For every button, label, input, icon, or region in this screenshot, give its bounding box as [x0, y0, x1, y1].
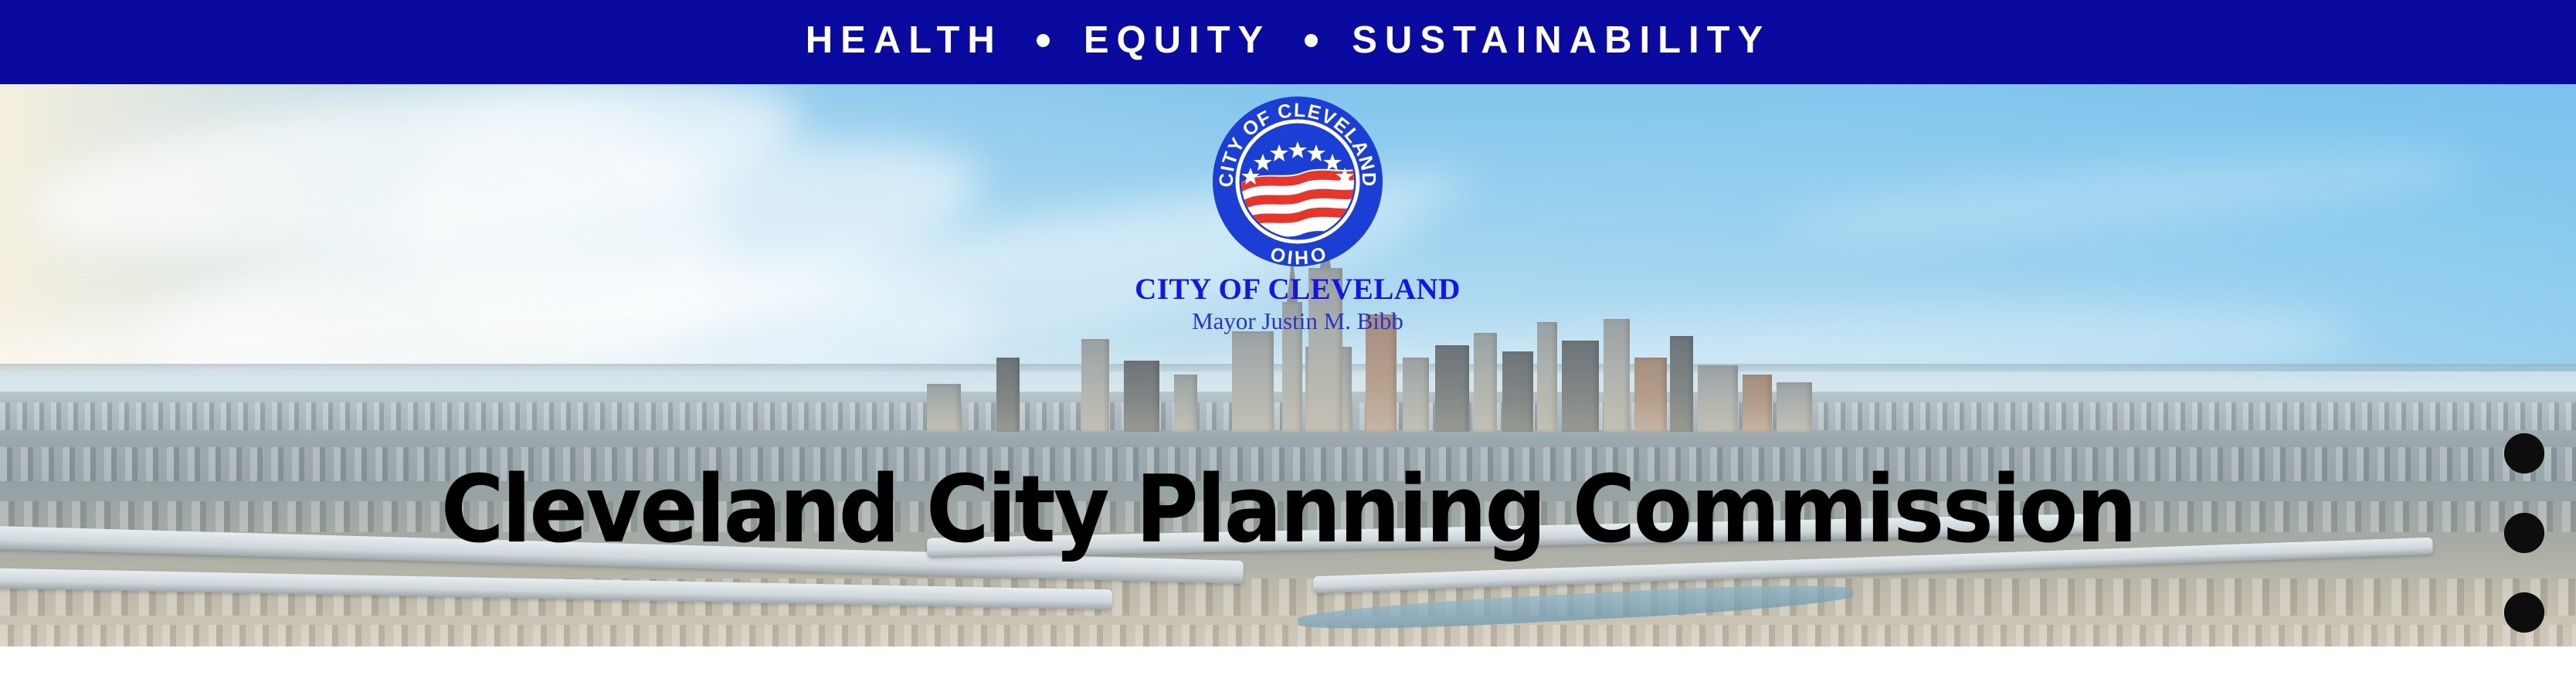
tagline-word-equity: EQUITY	[1084, 22, 1271, 59]
skyline-building	[1403, 358, 1429, 432]
skyline-building	[1474, 333, 1497, 432]
skyline-building	[1604, 319, 1630, 432]
page-title: Cleveland City Planning Commission	[90, 464, 2486, 557]
skyline-building	[927, 384, 961, 432]
mayor-name-label: Mayor Justin M. Bibb	[1081, 308, 1514, 334]
instagram-icon[interactable]	[2504, 513, 2544, 553]
youtube-icon[interactable]	[2504, 433, 2544, 473]
bullet-dot-icon	[1305, 34, 1318, 47]
skyline-building	[1698, 365, 1738, 432]
tagline-word-sustainability: SUSTAINABILITY	[1352, 22, 1770, 59]
skyline-building	[1537, 322, 1557, 432]
tagline-banner-inner: HEALTH EQUITY SUSTAINABILITY	[806, 22, 1770, 59]
city-logo-lockup: CITY OF CLEVELAND OHIO CITY OF CLEVELAND…	[1081, 93, 1514, 334]
tagline-word-health: HEALTH	[806, 22, 1003, 59]
bullet-dot-icon	[1037, 34, 1050, 47]
skyline-building	[1634, 358, 1667, 432]
skyline-building	[1777, 382, 1812, 432]
social-links-rail	[2504, 433, 2544, 633]
city-of-cleveland-seal-icon: CITY OF CLEVELAND OHIO	[1210, 93, 1386, 270]
facebook-icon[interactable]	[2504, 592, 2544, 633]
skyline-building	[1081, 339, 1109, 432]
skyline-building	[1174, 375, 1197, 432]
hero-photo: CITY OF CLEVELAND OHIO CITY OF CLEVELAND…	[0, 84, 2576, 646]
skyline-building	[1124, 361, 1159, 432]
skyline-building	[996, 358, 1020, 432]
skyline-building	[1562, 341, 1599, 432]
bottom-white-strip	[0, 646, 2576, 682]
cleveland-city-planning-header: HEALTH EQUITY SUSTAINABILITY	[0, 0, 2576, 682]
skyline-building	[1670, 336, 1693, 432]
city-name-label: CITY OF CLEVELAND	[1081, 274, 1514, 306]
skyline-building	[1502, 351, 1533, 432]
skyline-building	[1743, 375, 1772, 432]
skyline-building	[1435, 345, 1469, 432]
skyline-building	[1232, 331, 1274, 432]
tagline-banner: HEALTH EQUITY SUSTAINABILITY	[0, 0, 2576, 84]
